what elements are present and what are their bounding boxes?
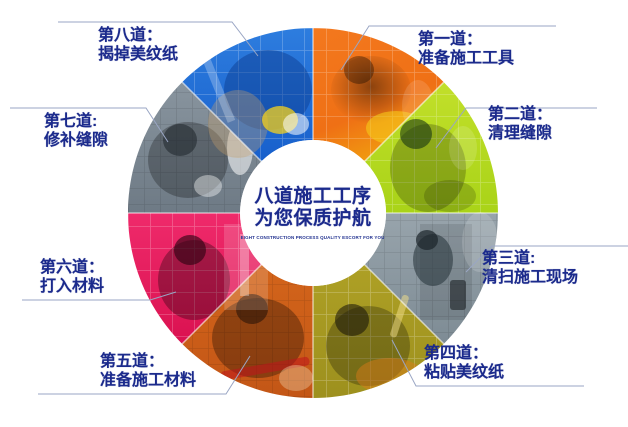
step-7-desc: 修补缝隙 (44, 131, 108, 150)
step-7-title: 第七道: (44, 112, 108, 131)
process-wheel: 八道施工工序 为您保质护航 EIGHT CONSTRUCTION PROCESS… (128, 28, 498, 398)
step-label-3[interactable]: 第三道: 清扫施工现场 (482, 249, 578, 287)
step-label-5[interactable]: 第五道： 准备施工材料 (100, 352, 196, 390)
step-5-desc: 准备施工材料 (100, 371, 196, 390)
step-5-title: 第五道： (100, 352, 196, 371)
center-english-subtitle: EIGHT CONSTRUCTION PROCESS QUALITY ESCOR… (241, 235, 385, 240)
step-4-desc: 粘贴美纹纸 (424, 363, 504, 382)
step-6-title: 第六道： (40, 258, 104, 277)
step-label-2[interactable]: 第二道： 清理缝隙 (488, 105, 552, 143)
step-8-title: 第八道： (98, 26, 178, 45)
step-2-title: 第二道： (488, 105, 552, 124)
step-label-4[interactable]: 第四道： 粘贴美纹纸 (424, 344, 504, 382)
center-title-line-1: 八道施工工序 (254, 186, 371, 207)
step-label-8[interactable]: 第八道： 揭掉美纹纸 (98, 26, 178, 64)
center-hub: 八道施工工序 为您保质护航 EIGHT CONSTRUCTION PROCESS… (240, 140, 386, 286)
step-4-title: 第四道： (424, 344, 504, 363)
step-label-7[interactable]: 第七道: 修补缝隙 (44, 112, 108, 150)
step-3-title: 第三道: (482, 249, 578, 268)
center-title-line-2: 为您保质护航 (254, 208, 371, 229)
step-3-desc: 清扫施工现场 (482, 268, 578, 287)
step-1-title: 第一道： (418, 30, 514, 49)
step-8-desc: 揭掉美纹纸 (98, 45, 178, 64)
step-label-1[interactable]: 第一道： 准备施工工具 (418, 30, 514, 68)
infographic-canvas: 八道施工工序 为您保质护航 EIGHT CONSTRUCTION PROCESS… (0, 0, 628, 427)
step-2-desc: 清理缝隙 (488, 124, 552, 143)
step-6-desc: 打入材料 (40, 277, 104, 296)
step-label-6[interactable]: 第六道： 打入材料 (40, 258, 104, 296)
step-1-desc: 准备施工工具 (418, 49, 514, 68)
